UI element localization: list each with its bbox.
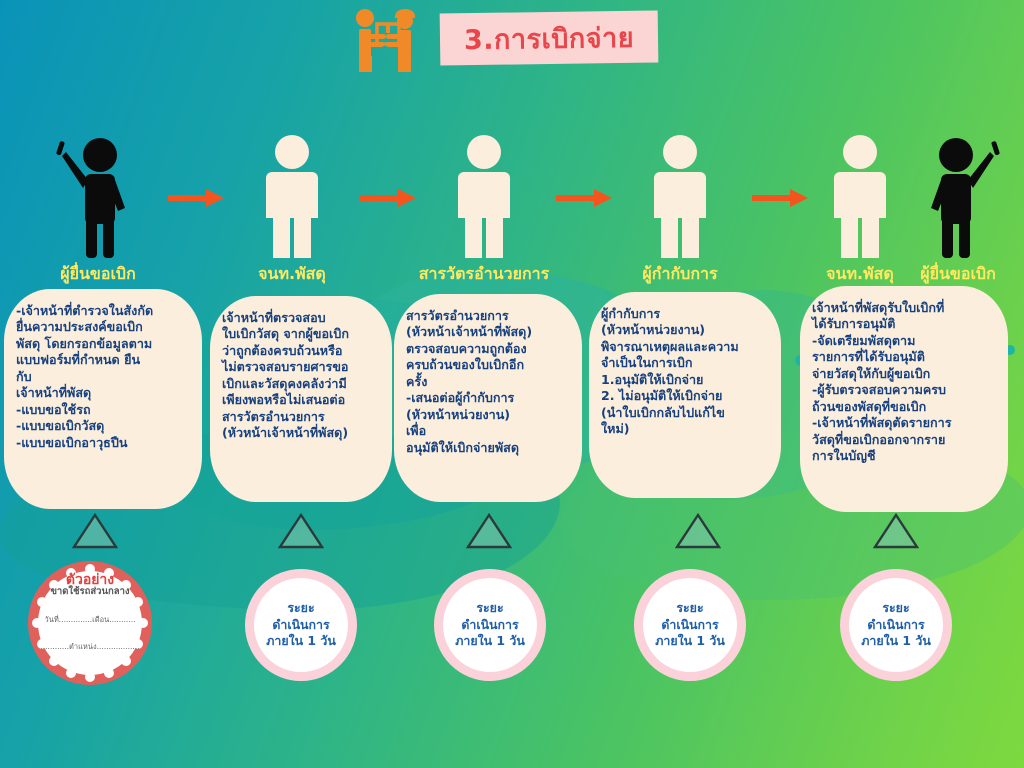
up-triangle-icon [466, 512, 512, 550]
step-bubble-1: -เจ้าหน้าที่ตำรวจในสังกัด ยื่นความประสงค… [4, 289, 202, 509]
title-banner: 3.การเบิกจ่าย [440, 10, 659, 65]
figure-person-step-2 [232, 130, 352, 260]
up-triangle-icon [873, 512, 919, 550]
duration-text: ระยะ ดำเนินการ ภายใน 1 วัน [655, 600, 725, 650]
figure-label-last: ผู้ยื่นขอเบิก [888, 262, 1024, 287]
up-triangle-icon [675, 512, 721, 550]
duration-circle-step-4: ระยะ ดำเนินการ ภายใน 1 วัน [634, 569, 746, 681]
flow-arrow-icon [556, 188, 612, 208]
duration-circle-step-3: ระยะ ดำเนินการ ภายใน 1 วัน [434, 569, 546, 681]
stamp-date-line: วันที่..............เดือน........... [26, 614, 154, 626]
stamp-heading: ขาดใช้รถส่วนกลาง [26, 584, 154, 599]
step-bubble-3: สารวัตรอำนวยการ (หัวหน้าเจ้าหน้าที่พัสดุ… [394, 294, 582, 502]
figure-person-step-3 [424, 130, 544, 260]
flow-arrow-icon [360, 188, 416, 208]
duration-circle-step-5: ระยะ ดำเนินการ ภายใน 1 วัน [840, 569, 952, 681]
figure-person-step-4 [620, 130, 740, 260]
page-title: 3.การเบิกจ่าย [464, 15, 635, 60]
step-bubble-5: เจ้าหน้าที่พัสดุรับใบเบิกที่ ได้รับการอน… [800, 286, 1008, 512]
step-bubble-4: ผู้กำกับการ (หัวหน้าหน่วยงาน) พิจารณาเหต… [589, 292, 781, 498]
infographic-canvas: 3.การเบิกจ่าย ผู้ยื่นขอเบิก จนท.พัสดุ [0, 0, 1024, 768]
duration-text: ระยะ ดำเนินการ ภายใน 1 วัน [266, 600, 336, 650]
stamp-position-line: ............ตำแหน่ง.................. [26, 641, 154, 653]
figure-label-step-1: ผู้ยื่นขอเบิก [28, 262, 168, 287]
duration-text: ระยะ ดำเนินการ ภายใน 1 วัน [455, 600, 525, 650]
flow-arrow-icon [168, 188, 224, 208]
figure-label-step-2: จนท.พัสดุ [222, 262, 362, 287]
duration-circle-step-2: ระยะ ดำเนินการ ภายใน 1 วัน [245, 569, 357, 681]
duration-text: ระยะ ดำเนินการ ภายใน 1 วัน [861, 600, 931, 650]
figure-label-step-3: สารวัตรอำนวยการ [394, 262, 574, 287]
step-bubble-2: เจ้าหน้าที่ตรวจสอบ ใบเบิกวัสดุ จากผู้ขอเ… [210, 296, 392, 502]
figure-black-pointing-right [898, 130, 1018, 260]
up-triangle-icon [278, 512, 324, 550]
up-triangle-icon [72, 512, 118, 550]
figure-label-step-4: ผู้กำกับการ [610, 262, 750, 287]
figure-black-pointing-left [38, 130, 158, 260]
delivery-handover-icon [348, 6, 420, 76]
sample-stamp-graphic: ตัวอย่าง ขาดใช้รถส่วนกลาง วันที่........… [26, 559, 154, 687]
